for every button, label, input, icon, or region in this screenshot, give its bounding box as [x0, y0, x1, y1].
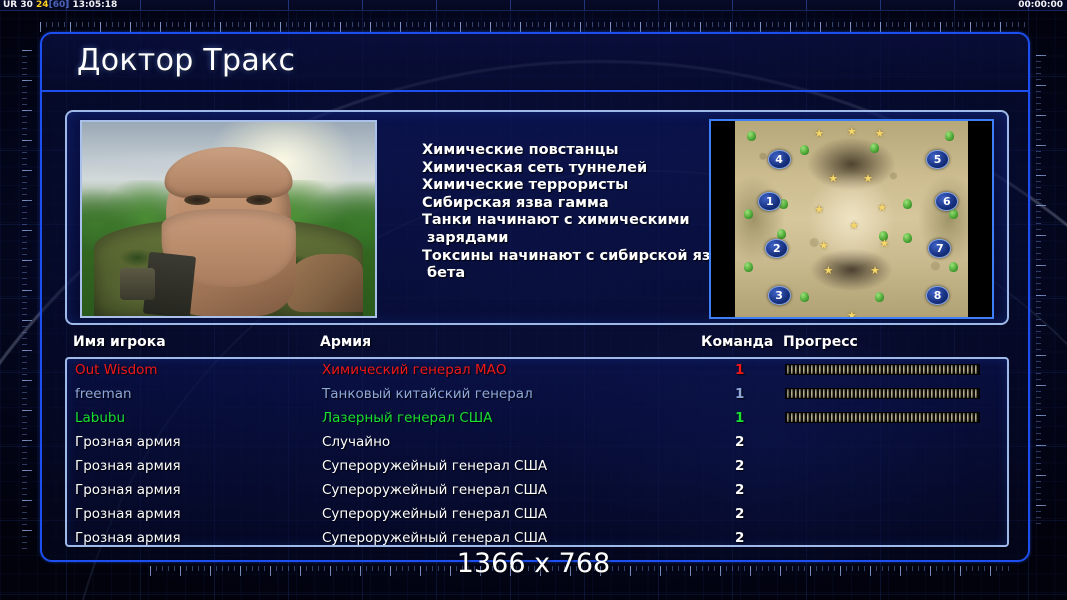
player-name: Грозная армия [75, 457, 181, 476]
description-line: Токсины начинают с сибирской язвы [422, 248, 732, 266]
description-line: Химическая сеть туннелей [422, 160, 732, 178]
status-bar-left: UR 30 24[60] 13:05:18 [3, 0, 117, 11]
map-supply-star-icon: ★ [863, 174, 873, 185]
player-table-header: Имя игрока Армия Команда Прогресс [65, 334, 1009, 356]
map-terrain: ★★★★★★★★★★★★★45162738 [735, 121, 968, 317]
player-team: 1 [735, 361, 744, 380]
player-name: Labubu [75, 409, 125, 428]
description-line: бета [422, 265, 732, 283]
player-team: 2 [735, 529, 744, 547]
map-tree-icon [903, 199, 912, 209]
map-supply-star-icon: ★ [819, 241, 829, 252]
status-fps: 24 [36, 0, 49, 10]
player-name: Грозная армия [75, 433, 181, 452]
map-tree-icon [870, 143, 879, 153]
map-supply-star-icon: ★ [824, 266, 834, 277]
table-row[interactable]: LabubuЛазерный генерал США1 [67, 407, 1007, 431]
player-team: 2 [735, 433, 744, 452]
map-start-position-6[interactable]: 6 [935, 192, 958, 211]
portrait-shoulder [287, 254, 363, 312]
description-line: Химические террористы [422, 177, 732, 195]
column-header-progress: Прогресс [783, 334, 858, 350]
page-title: Доктор Тракс [77, 43, 295, 78]
status-prefix: UR 30 [3, 0, 33, 10]
commander-portrait [80, 120, 377, 318]
table-row[interactable]: Грозная армияСлучайно2 [67, 431, 1007, 455]
map-tree-icon [800, 292, 809, 302]
portrait-eyes [179, 192, 279, 209]
info-panel: Химические повстанцыХимическая сеть тунн… [65, 110, 1009, 325]
description-line: Сибирская язва гамма [422, 195, 732, 213]
portrait-eye-left [185, 195, 211, 205]
column-header-team: Команда [701, 334, 773, 350]
map-tree-icon [744, 262, 753, 272]
map-supply-star-icon: ★ [875, 129, 885, 140]
status-bar-ticks [0, 0, 1067, 10]
ruler-top [40, 22, 1030, 32]
faction-description: Химические повстанцыХимическая сеть тунн… [422, 142, 732, 283]
player-team: 2 [735, 457, 744, 476]
map-start-position-3[interactable]: 3 [768, 286, 791, 305]
column-header-army: Армия [320, 334, 371, 350]
table-row[interactable]: Грозная армияСупероружейный генерал США2 [67, 503, 1007, 527]
player-progress-cell [785, 388, 980, 399]
status-bar: UR 30 24[60] 13:05:18 00:00:00 [0, 0, 1067, 11]
player-team: 1 [735, 409, 744, 428]
player-name: Грозная армия [75, 505, 181, 524]
map-tree-icon [903, 233, 912, 243]
game-lobby-screen: UR 30 24[60] 13:05:18 00:00:00 Доктор Тр… [0, 0, 1067, 600]
player-army: Супероружейный генерал США [322, 505, 547, 524]
map-supply-star-icon: ★ [828, 174, 838, 185]
map-tree-icon [777, 229, 786, 239]
status-fps-limit: [60] [49, 0, 70, 10]
status-timer: 00:00:00 [1018, 0, 1063, 11]
progress-bar [785, 388, 980, 399]
main-panel: Доктор Тракс [40, 32, 1030, 562]
map-supply-star-icon: ★ [847, 311, 857, 319]
map-supply-star-icon: ★ [849, 221, 859, 232]
map-supply-star-icon: ★ [847, 127, 857, 138]
map-tree-icon [800, 145, 809, 155]
column-header-name: Имя игрока [73, 334, 166, 350]
map-supply-star-icon: ★ [870, 266, 880, 277]
progress-bar [785, 364, 980, 375]
player-army: Танковый китайский генерал [322, 385, 533, 404]
player-progress-cell [785, 364, 980, 375]
table-row[interactable]: Грозная армияСупероружейный генерал США2 [67, 479, 1007, 503]
player-name: Грозная армия [75, 529, 181, 547]
status-clock: 13:05:18 [72, 0, 117, 10]
table-row[interactable]: freemanТанковый китайский генерал1 [67, 383, 1007, 407]
description-line: Химические повстанцы [422, 142, 732, 160]
map-supply-star-icon: ★ [877, 203, 887, 214]
ruler-left [22, 50, 32, 550]
player-army: Химический генерал МАО [322, 361, 506, 380]
table-row[interactable]: Грозная армияСупероружейный генерал США2 [67, 527, 1007, 547]
player-team: 1 [735, 385, 744, 404]
player-army: Супероружейный генерал США [322, 481, 547, 500]
table-row[interactable]: Out WisdomХимический генерал МАО1 [67, 359, 1007, 383]
player-army: Супероружейный генерал США [322, 529, 547, 547]
player-name: freeman [75, 385, 132, 404]
map-supply-star-icon: ★ [879, 239, 889, 250]
player-army: Лазерный генерал США [322, 409, 492, 428]
description-line: Танки начинают с химическими [422, 212, 732, 230]
ruler-right [1036, 55, 1046, 525]
map-tree-icon [744, 209, 753, 219]
player-progress-cell [785, 412, 980, 423]
player-team: 2 [735, 481, 744, 500]
map-preview[interactable]: ★★★★★★★★★★★★★45162738 [709, 119, 994, 319]
player-army: Супероружейный генерал США [322, 457, 547, 476]
map-start-position-4[interactable]: 4 [768, 150, 791, 169]
map-tree-icon [875, 292, 884, 302]
map-start-position-7[interactable]: 7 [928, 239, 951, 258]
portrait-pouch [120, 268, 155, 301]
player-team: 2 [735, 505, 744, 524]
map-tree-icon [747, 131, 756, 141]
map-supply-star-icon: ★ [814, 129, 824, 140]
player-name: Грозная армия [75, 481, 181, 500]
player-table: Out WisdomХимический генерал МАО1freeman… [65, 357, 1009, 547]
map-start-position-2[interactable]: 2 [765, 239, 788, 258]
map-start-position-8[interactable]: 8 [926, 286, 949, 305]
table-row[interactable]: Грозная армияСупероружейный генерал США2 [67, 455, 1007, 479]
map-tree-icon [945, 131, 954, 141]
title-bar: Доктор Тракс [42, 34, 1028, 92]
player-army: Случайно [322, 433, 390, 452]
progress-bar [785, 412, 980, 423]
map-tree-icon [949, 262, 958, 272]
map-supply-star-icon: ★ [814, 205, 824, 216]
map-start-position-1[interactable]: 1 [758, 192, 781, 211]
player-name: Out Wisdom [75, 361, 158, 380]
resolution-overlay: 1366 x 768 [0, 548, 1067, 579]
portrait-eye-right [246, 195, 272, 205]
description-line: зарядами [422, 230, 732, 248]
